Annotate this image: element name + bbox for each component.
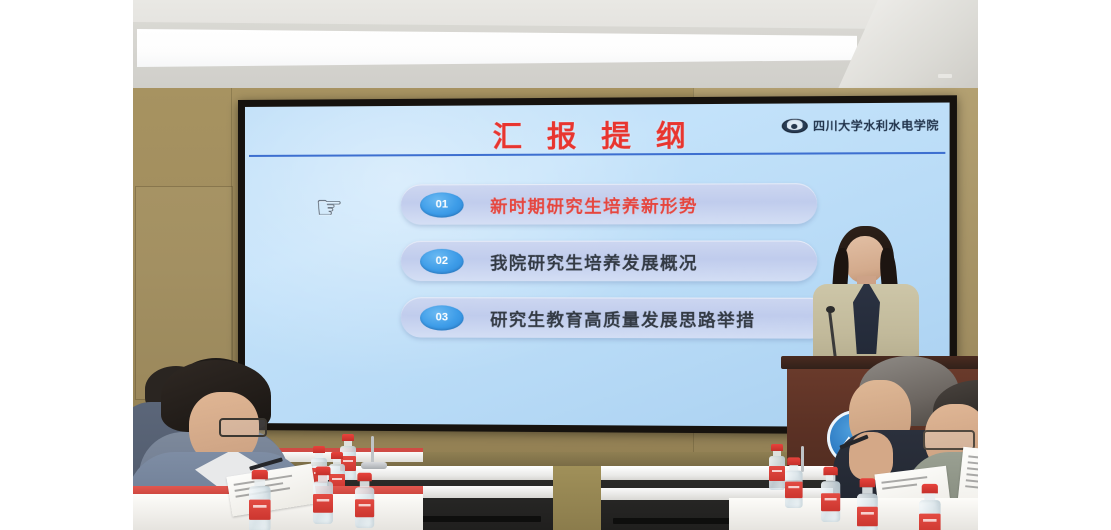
ceiling	[133, 0, 978, 96]
agenda-label: 我院研究生培养发展概况	[490, 248, 698, 273]
water-bottle	[355, 473, 374, 528]
podium-microphone-head	[826, 306, 835, 313]
agenda-label: 研究生教育高质量发展思路举措	[490, 305, 755, 331]
water-bottle	[821, 467, 840, 522]
water-bottle	[857, 478, 878, 530]
slide-brand: 四川大学水利水电学院	[782, 117, 939, 134]
agenda-label: 新时期研究生培养新形势	[490, 191, 698, 217]
water-bottle	[313, 467, 333, 525]
agenda-number-badge: 03	[420, 305, 464, 330]
water-bottle	[769, 444, 785, 490]
pointing-hand-icon: ☞	[307, 192, 351, 222]
sichuan-university-logo-icon	[782, 119, 808, 133]
table-microphone-base	[361, 462, 387, 469]
agenda-number-badge: 01	[420, 192, 464, 217]
slide-brand-text: 四川大学水利水电学院	[813, 117, 939, 134]
table-microphone-stem	[801, 446, 804, 472]
agenda-pill: 03 研究生教育高质量发展思路举措	[401, 297, 831, 338]
attendee-glasses	[219, 418, 267, 437]
water-bottle	[785, 457, 803, 508]
table-gap	[553, 466, 601, 530]
agenda-number-badge: 02	[420, 248, 464, 273]
screenshot-root: 汇 报 提 纲 四川大学水利水电学院 ☞ 01 新时期研究生培养新形势	[0, 0, 1111, 530]
agenda-pill: 01 新时期研究生培养新形势	[401, 183, 817, 225]
water-bottle	[249, 470, 271, 530]
ceiling-vent	[938, 74, 952, 78]
water-bottle	[919, 484, 941, 530]
conference-room-photo: 汇 报 提 纲 四川大学水利水电学院 ☞ 01 新时期研究生培养新形势	[133, 0, 978, 530]
agenda-pill: 02 我院研究生培养发展概况	[401, 240, 817, 281]
table-surface-front-right	[729, 498, 978, 530]
